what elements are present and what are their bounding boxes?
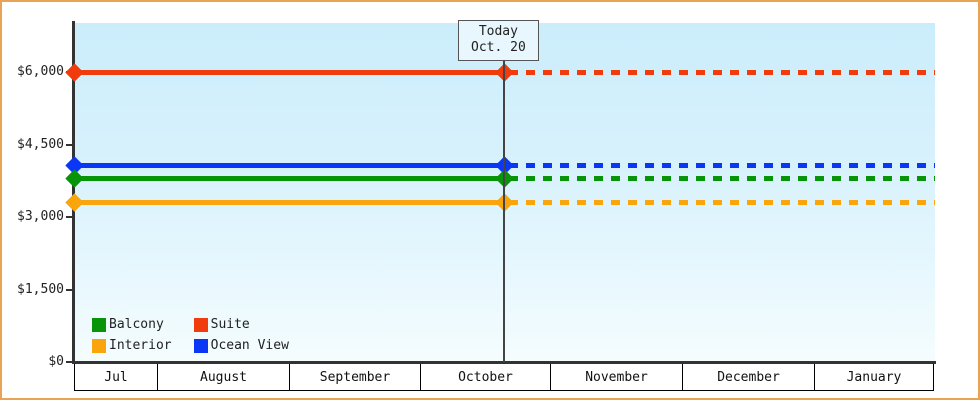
legend-item[interactable]: Interior <box>92 335 172 356</box>
today-marker-line <box>503 46 505 362</box>
series-line-solid <box>74 70 503 75</box>
legend-label: Interior <box>109 338 172 353</box>
today-callout: Today Oct. 20 <box>458 20 539 61</box>
legend-item[interactable]: Balcony <box>92 314 172 335</box>
series-line-solid <box>74 176 503 181</box>
legend-label: Ocean View <box>211 338 289 353</box>
y-axis-label-wrap: $4,500 <box>2 137 64 151</box>
series-line-dashed <box>509 176 935 181</box>
y-axis-label: $4,500 <box>17 137 64 152</box>
legend-swatch-icon <box>92 339 106 353</box>
series-line-dashed <box>509 200 935 205</box>
legend-item[interactable]: Ocean View <box>194 335 289 356</box>
series-line-solid <box>74 163 503 168</box>
month-axis-cell[interactable]: September <box>289 364 420 390</box>
legend-swatch-icon <box>194 318 208 332</box>
month-axis-cell[interactable]: October <box>420 364 550 390</box>
month-axis-cell[interactable]: Jul <box>74 364 157 390</box>
month-axis-cell[interactable]: December <box>682 364 814 390</box>
month-axis-cell[interactable]: November <box>550 364 682 390</box>
chart-container: $6,000$4,500$3,000$1,500$0 Today Oct. 20… <box>0 0 980 400</box>
today-callout-line1: Today <box>471 24 526 40</box>
month-axis-cell[interactable]: January <box>814 364 934 390</box>
y-axis-label: $6,000 <box>17 64 64 79</box>
series-line-dashed <box>509 70 935 75</box>
month-axis-cell[interactable]: August <box>157 364 289 390</box>
month-axis: JulAugustSeptemberOctoberNovemberDecembe… <box>74 364 934 391</box>
chart-legend: BalconySuiteInteriorOcean View <box>92 314 289 356</box>
y-axis-label: $3,000 <box>17 209 64 224</box>
y-axis-label-wrap: $3,000 <box>2 209 64 223</box>
series-line-solid <box>74 200 503 205</box>
y-axis-label-wrap: $6,000 <box>2 64 64 78</box>
today-callout-line2: Oct. 20 <box>471 40 526 56</box>
legend-swatch-icon <box>194 339 208 353</box>
y-axis-label: $1,500 <box>17 282 64 297</box>
y-tick <box>66 216 74 218</box>
y-axis-label-wrap: $1,500 <box>2 282 64 296</box>
legend-label: Suite <box>211 317 250 332</box>
series-line-dashed <box>509 163 935 168</box>
y-tick <box>66 144 74 146</box>
legend-label: Balcony <box>109 317 164 332</box>
legend-swatch-icon <box>92 318 106 332</box>
y-axis-label: $0 <box>48 354 64 369</box>
y-axis-label-wrap: $0 <box>2 354 64 368</box>
y-tick <box>66 361 74 363</box>
legend-item[interactable]: Suite <box>194 314 289 335</box>
y-tick <box>66 289 74 291</box>
